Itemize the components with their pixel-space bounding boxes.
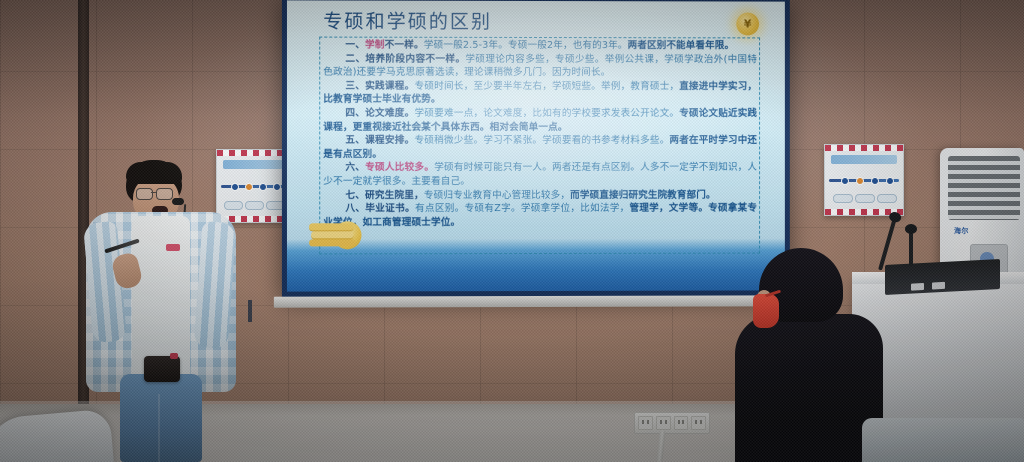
wall-vignette [0,0,1024,462]
lecture-room-photo: 专硕和学硕的区别 ¥ 一、学制不一样。学硕一般2.5-3年。专硕一般2年，也有的… [0,0,1024,462]
